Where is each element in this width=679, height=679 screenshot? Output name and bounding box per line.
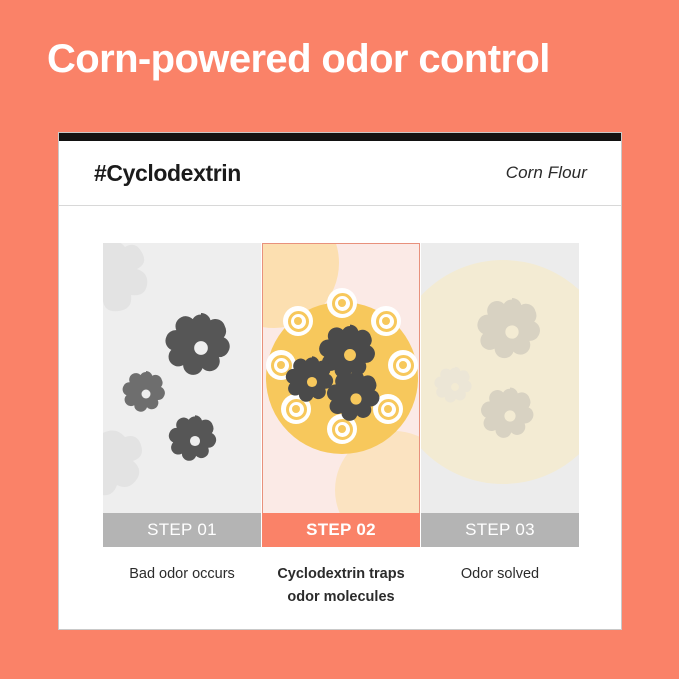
solved-molecule-medium-icon <box>479 385 541 447</box>
steps-row: STEP 01 Bad odor occurs <box>103 243 579 609</box>
hashtag-label: #Cyclodextrin <box>94 160 241 187</box>
odor-molecule-medium-icon <box>167 413 223 469</box>
puzzle-blob-bottom-left-icon <box>103 425 177 511</box>
step-item-02: STEP 02 Cyclodextrin traps odor molecule… <box>262 243 420 609</box>
step-02-bar: STEP 02 <box>262 513 420 547</box>
step-item-01: STEP 01 Bad odor occurs <box>103 243 261 609</box>
page-title: Corn-powered odor control <box>47 36 637 82</box>
step-01-illustration <box>103 243 261 513</box>
solved-molecule-large-icon <box>475 295 549 369</box>
step-01-bar: STEP 01 <box>103 513 261 547</box>
cyclodextrin-ring-icon <box>283 306 313 336</box>
step-03-caption: Odor solved <box>421 563 579 586</box>
cyclodextrin-ring-icon <box>388 350 418 380</box>
card-top-accent-bar <box>59 133 621 141</box>
step-02-caption: Cyclodextrin traps odor molecules <box>262 563 420 609</box>
odor-molecule-small-icon <box>121 369 171 419</box>
solved-molecule-small-icon <box>433 365 477 409</box>
step-02-illustration <box>262 243 420 513</box>
step-item-03: STEP 03 Odor solved <box>421 243 579 609</box>
cyclodextrin-ring-icon <box>327 288 357 318</box>
ingredient-label: Corn Flour <box>506 163 587 183</box>
step-03-bar: STEP 03 <box>421 513 579 547</box>
card-header: #Cyclodextrin Corn Flour <box>59 141 621 206</box>
step-03-illustration <box>421 243 579 513</box>
odor-molecule-large-icon <box>163 310 239 386</box>
trapped-molecule-bottom-icon <box>325 368 387 430</box>
info-card: #Cyclodextrin Corn Flour <box>58 132 622 630</box>
step-01-caption: Bad odor occurs <box>103 563 261 586</box>
